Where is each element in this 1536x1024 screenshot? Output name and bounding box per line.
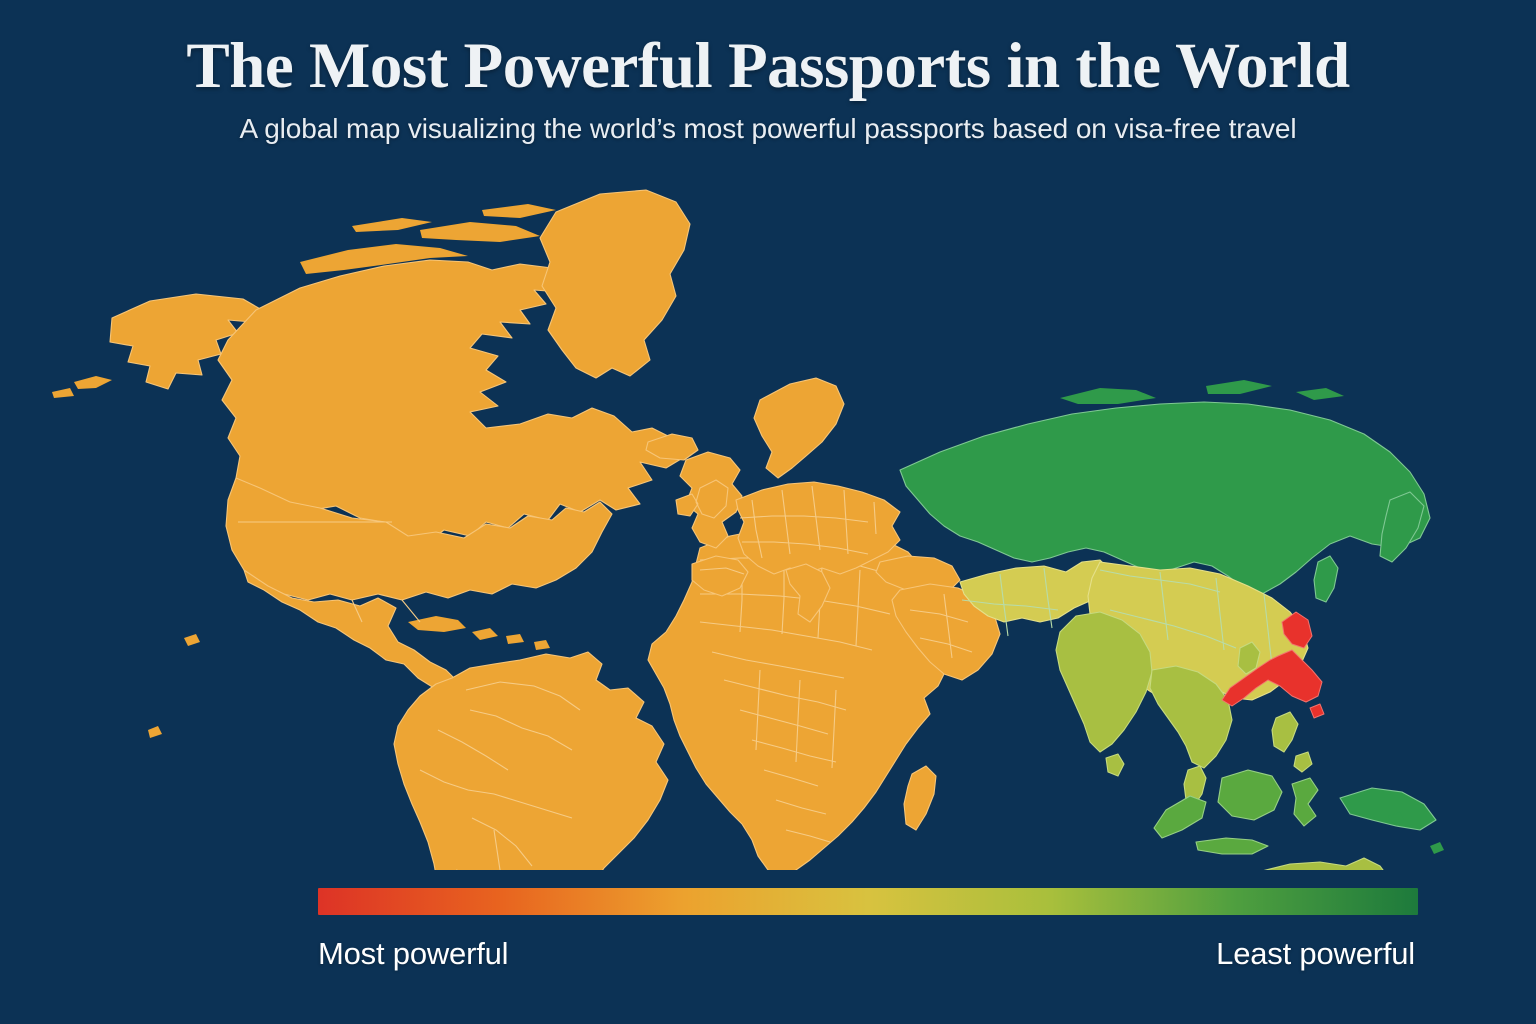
page-subtitle: A global map visualizing the world’s mos…	[0, 99, 1536, 145]
world-map-svg: .o { fill:#eda534; stroke:#f7c577; strok…	[0, 170, 1536, 870]
world-map[interactable]: .o { fill:#eda534; stroke:#f7c577; strok…	[0, 170, 1536, 870]
header: The Most Powerful Passports in the World…	[0, 0, 1536, 145]
legend-gradient-bar	[318, 888, 1418, 915]
legend-labels: Most powerful Least powerful	[318, 936, 1418, 982]
legend: Most powerful Least powerful	[318, 888, 1418, 982]
page-title: The Most Powerful Passports in the World	[0, 0, 1536, 99]
legend-label-most-powerful: Most powerful	[318, 936, 508, 972]
passport-power-infographic: The Most Powerful Passports in the World…	[0, 0, 1536, 1024]
legend-label-least-powerful: Least powerful	[1216, 936, 1415, 972]
